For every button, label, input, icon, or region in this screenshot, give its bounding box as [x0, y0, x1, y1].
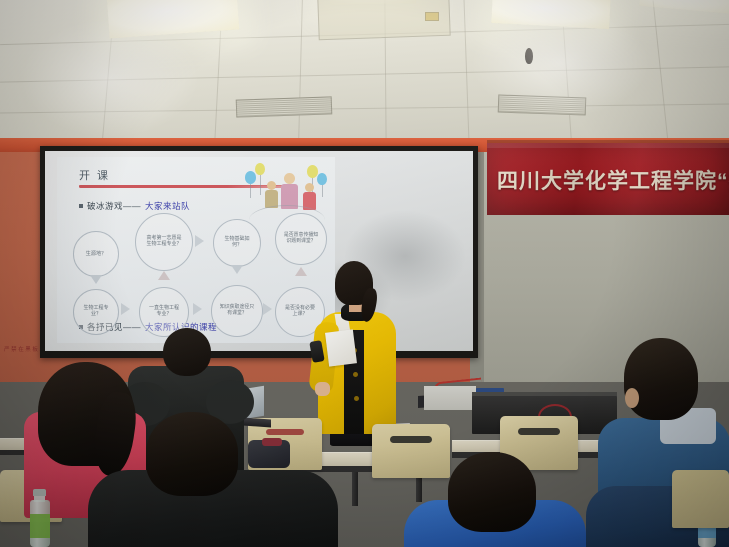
flow-arrow-right: [193, 303, 202, 315]
ceiling-speaker: [525, 48, 533, 64]
classroom-photo-scene: 严禁在黑板上书写 开 课 破冰游戏—— 大家来站队: [0, 0, 729, 547]
chair: [672, 470, 729, 528]
ceiling-sensor: [425, 12, 439, 21]
slide-title: 开 课: [79, 167, 110, 183]
flow-node: 高考第一志愿是生物工程专业？: [135, 213, 193, 271]
slide-bullet-1: 破冰游戏—— 大家来站队: [79, 200, 190, 212]
balloon-icon: [255, 163, 265, 175]
banner-top-hem: [487, 143, 729, 148]
chair-handle-slot: [390, 436, 432, 443]
presenter-papers: [325, 329, 357, 366]
ceiling: [0, 0, 729, 142]
chair-handle-slot: [266, 429, 304, 435]
ceiling-vent: [498, 94, 587, 115]
bullet-square-icon: [79, 204, 83, 208]
flow-arrow-down: [231, 265, 243, 274]
flow-node: 生物基础如何？: [213, 219, 261, 267]
ceiling-light-panel: [491, 0, 611, 29]
flow-arrow-down: [90, 275, 102, 284]
flow-arrow-up: [158, 271, 170, 280]
banner-text: 四川大学化学工程学院“探究: [497, 165, 729, 195]
flow-arrow-right: [121, 303, 130, 315]
chair-handle-slot: [518, 428, 560, 435]
flow-arrow-up: [295, 267, 307, 276]
projection-screen-frame: 开 课 破冰游戏—— 大家来站队 各抒已见—— 大家所认识的课程 生源地？: [40, 146, 478, 358]
bag-strap: [262, 438, 282, 446]
presenter-hand: [315, 382, 330, 396]
lecture-podium: [424, 386, 476, 410]
projection-screen: 开 课 破冰游戏—— 大家来站队 各抒已见—— 大家所认识的课程 生源地？: [45, 151, 473, 351]
family-with-balloons-clipart: [243, 161, 331, 215]
balloon-icon: [317, 173, 327, 185]
flow-arrow-right: [195, 235, 204, 247]
flow-node: 是否愿意传播知识题到课堂？: [275, 213, 327, 265]
balloon-icon: [245, 171, 256, 184]
flow-node: 知识获取途径只有课堂？: [211, 285, 263, 337]
slide-bullet-1-blue: 大家来站队: [145, 200, 190, 212]
ear: [625, 388, 639, 408]
flow-node: 生源地？: [73, 231, 119, 277]
flow-node: 生物工程专业？: [73, 289, 119, 335]
powerpoint-slide: 开 课 破冰游戏—— 大家来站队 各抒已见—— 大家所认识的课程 生源地？: [57, 157, 335, 343]
red-event-banner: 四川大学化学工程学院“探究: [487, 143, 729, 215]
chair: [372, 424, 450, 478]
flow-arrow-right: [263, 303, 272, 315]
ceiling-vent: [236, 96, 333, 117]
slide-bullet-1-dark: 破冰游戏——: [87, 200, 141, 212]
table-leg: [352, 472, 358, 506]
